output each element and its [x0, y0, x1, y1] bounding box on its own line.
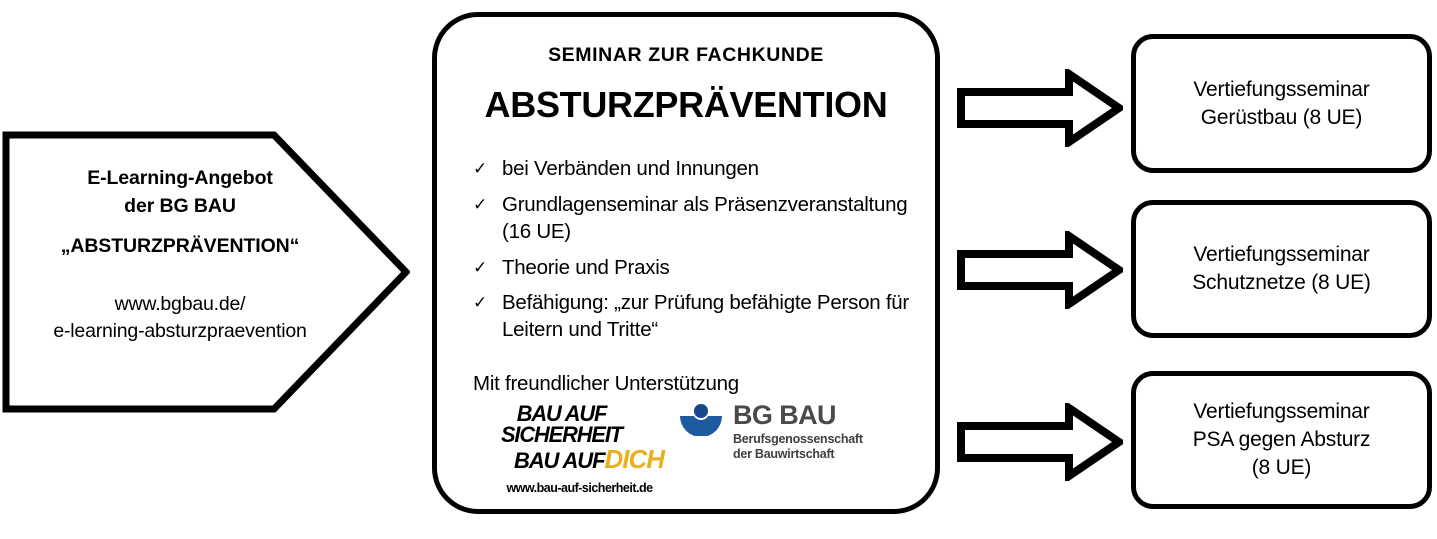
- bg-bau-wordmark-block: BG BAU Berufsgenossenschaft der Bauwirts…: [733, 402, 863, 463]
- list-item-label: Grundlagenseminar als Präsenzveranstaltu…: [502, 193, 907, 243]
- right-node-line3: (8 UE): [1193, 454, 1371, 482]
- list-item: ✓ bei Verbänden und Innungen: [473, 156, 913, 183]
- pentagon-content: E-Learning-Angebot der BG BAU „ABSTURZPR…: [10, 139, 350, 405]
- bg-bau-logo: BG BAU Berufsgenossenschaft der Bauwirts…: [678, 401, 863, 463]
- left-pentagon-node[interactable]: E-Learning-Angebot der BG BAU „ABSTURZPR…: [2, 131, 410, 413]
- arrow-to-psa: [957, 403, 1123, 481]
- bg-bau-subtitle: Berufsgenossenschaft der Bauwirtschaft: [733, 432, 863, 463]
- left-node-title: E-Learning-Angebot der BG BAU: [87, 165, 273, 220]
- diagram-canvas: E-Learning-Angebot der BG BAU „ABSTURZPR…: [0, 0, 1437, 539]
- list-item-label: Theorie und Praxis: [502, 256, 670, 279]
- center-node-content: SEMINAR ZUR FACHKUNDE ABSTURZPRÄVENTION …: [437, 17, 935, 509]
- list-item: ✓ Grundlagenseminar als Präsenzveranstal…: [473, 192, 913, 246]
- check-icon: ✓: [473, 156, 487, 182]
- list-item: ✓ Theorie und Praxis: [473, 255, 913, 282]
- block-arrow-right-icon: [957, 231, 1123, 309]
- right-node-schutznetze[interactable]: Vertiefungsseminar Schutznetze (8 UE): [1131, 200, 1432, 338]
- left-node-topic: „ABSTURZPRÄVENTION“: [61, 233, 300, 261]
- seminar-feature-list: ✓ bei Verbänden und Innungen ✓ Grundlage…: [473, 156, 913, 344]
- bas-logo-line2: BAU AUFDICH: [459, 447, 664, 472]
- right-node-line1: Vertiefungsseminar: [1192, 241, 1370, 269]
- right-node-label: Vertiefungsseminar Gerüstbau (8 UE): [1193, 76, 1369, 132]
- bg-bau-subtitle-line1: Berufsgenossenschaft: [733, 432, 863, 447]
- bas-logo-url: www.bau-auf-sicherheit.de: [459, 481, 664, 495]
- left-node-url-line1: www.bgbau.de/: [53, 291, 306, 318]
- right-node-psa[interactable]: Vertiefungsseminar PSA gegen Absturz (8 …: [1131, 371, 1432, 509]
- right-node-geruestbau[interactable]: Vertiefungsseminar Gerüstbau (8 UE): [1131, 34, 1432, 173]
- left-node-title-line1: E-Learning-Angebot: [87, 165, 273, 193]
- list-item: ✓ Befähigung: „zur Prüfung befähigte Per…: [473, 290, 913, 344]
- right-node-line2: Schutznetze (8 UE): [1192, 269, 1370, 297]
- check-icon: ✓: [473, 192, 487, 218]
- seminar-title: ABSTURZPRÄVENTION: [459, 84, 913, 126]
- bg-bau-subtitle-line2: der Bauwirtschaft: [733, 447, 863, 462]
- bas-logo-line2-yellow: DICH: [604, 444, 664, 474]
- bg-bau-bowl-icon: [678, 402, 724, 436]
- block-arrow-right-icon: [957, 69, 1123, 147]
- arrow-to-geruestbau: [957, 69, 1123, 147]
- right-node-line1: Vertiefungsseminar: [1193, 76, 1369, 104]
- arrow-to-schutznetze: [957, 231, 1123, 309]
- left-node-title-line2: der BG BAU: [87, 193, 273, 221]
- block-arrow-right-icon: [957, 403, 1123, 481]
- list-item-label: bei Verbänden und Innungen: [502, 157, 759, 180]
- support-note: Mit freundlicher Unterstützung: [473, 372, 913, 396]
- left-node-url[interactable]: www.bgbau.de/ e-learning-absturzpraevent…: [53, 291, 306, 345]
- right-node-line2: PSA gegen Absturz: [1193, 426, 1371, 454]
- bg-bau-wordmark: BG BAU: [733, 402, 863, 429]
- right-node-label: Vertiefungsseminar Schutznetze (8 UE): [1192, 241, 1370, 297]
- left-node-url-line2: e-learning-absturzpraevention: [53, 318, 306, 345]
- sponsor-logos: BAU AUF SICHERHEIT BAU AUFDICH www.bau-a…: [459, 401, 919, 495]
- right-node-line1: Vertiefungsseminar: [1193, 398, 1371, 426]
- right-node-label: Vertiefungsseminar PSA gegen Absturz (8 …: [1193, 398, 1371, 482]
- seminar-kicker: SEMINAR ZUR FACHKUNDE: [459, 44, 913, 67]
- list-item-label: Befähigung: „zur Prüfung befähigte Perso…: [502, 291, 909, 341]
- center-seminar-node[interactable]: SEMINAR ZUR FACHKUNDE ABSTURZPRÄVENTION …: [432, 12, 940, 514]
- bas-logo-line2-black: BAU AUF: [514, 448, 604, 473]
- right-node-line2: Gerüstbau (8 UE): [1193, 104, 1369, 132]
- bas-logo-line1: BAU AUF SICHERHEIT: [460, 403, 663, 446]
- check-icon: ✓: [473, 290, 487, 316]
- bau-auf-sicherheit-logo: BAU AUF SICHERHEIT BAU AUFDICH www.bau-a…: [459, 401, 664, 495]
- check-icon: ✓: [473, 255, 487, 281]
